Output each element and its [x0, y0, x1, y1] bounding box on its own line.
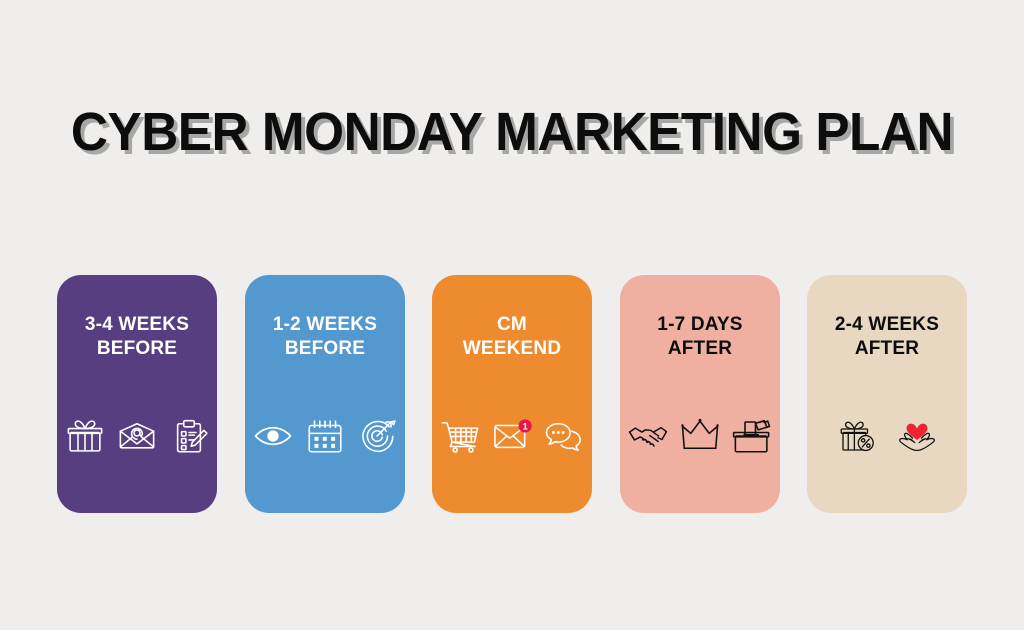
card-label-line1: 1-2 WEEKS: [273, 314, 377, 335]
handshake-icon: [627, 415, 669, 457]
card-3-4-weeks-before[interactable]: 3-4 WEEKS BEFORE: [57, 275, 217, 513]
card-1-2-weeks-before[interactable]: 1-2 WEEKS BEFORE: [245, 275, 405, 513]
icon-row: [57, 405, 217, 467]
card-label-line1: CM: [497, 314, 527, 335]
card-label-line2: AFTER: [668, 338, 732, 359]
chat-bubbles-icon: [543, 415, 585, 457]
card-label: 1-2 WEEKS BEFORE: [251, 313, 399, 361]
card-label: 3-4 WEEKS BEFORE: [63, 313, 211, 361]
card-label-line1: 1-7 DAYS: [657, 314, 742, 335]
email-at-icon: [116, 415, 158, 457]
eye-icon: [252, 415, 294, 457]
clipboard-checklist-icon: [168, 415, 210, 457]
envelope-badge-count: 1: [522, 421, 528, 432]
envelope-notification-icon: 1: [491, 415, 533, 457]
hands-heart-icon: [896, 415, 938, 457]
card-label-line2: AFTER: [855, 338, 919, 359]
card-label-line2: BEFORE: [285, 338, 365, 359]
card-2-4-weeks-after[interactable]: 2-4 WEEKS AFTER: [807, 275, 967, 513]
card-label-line1: 3-4 WEEKS: [85, 314, 189, 335]
card-label: 2-4 WEEKS AFTER: [813, 313, 961, 361]
gift-discount-icon: [836, 415, 878, 457]
icon-row: [245, 405, 405, 467]
icon-row: [620, 405, 780, 467]
card-label: 1-7 DAYS AFTER: [626, 313, 774, 361]
card-label-line1: 2-4 WEEKS: [835, 314, 939, 335]
card-cm-weekend[interactable]: CM WEEKEND: [432, 275, 592, 513]
crown-icon: [679, 415, 721, 457]
card-label: CM WEEKEND: [438, 313, 586, 361]
card-label-line2: WEEKEND: [463, 338, 562, 359]
icon-row: [807, 405, 967, 467]
timeline-card-row: 3-4 WEEKS BEFORE: [57, 275, 969, 515]
card-1-7-days-after[interactable]: 1-7 DAYS AFTER: [620, 275, 780, 513]
shopping-cart-icon: [439, 415, 481, 457]
calendar-icon: [304, 415, 346, 457]
icon-row: 1: [432, 405, 592, 467]
gift-icon: [64, 415, 106, 457]
card-label-line2: BEFORE: [97, 338, 177, 359]
ballot-box-icon: [731, 415, 773, 457]
page-title: CYBER MONDAY MARKETING PLAN: [26, 103, 999, 161]
target-arrow-icon: [356, 415, 398, 457]
